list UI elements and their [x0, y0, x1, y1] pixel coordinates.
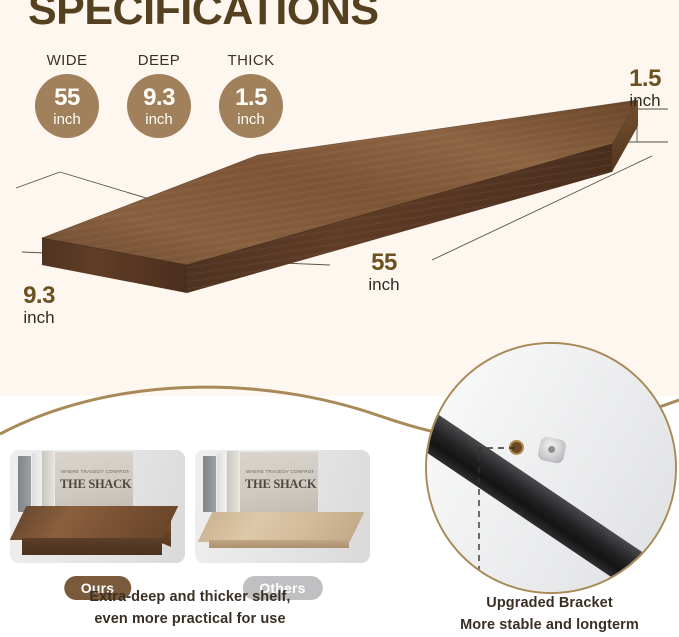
shelf-drawing — [0, 60, 679, 330]
badge-holder-others: Others — [195, 558, 370, 588]
page-title: SPECIFICATIONS — [28, 0, 379, 33]
detail-caption: Upgraded Bracket More stable and longter… — [420, 592, 679, 637]
book-spine — [227, 451, 239, 512]
book-stack: WHERE TRAGEDY CONFRONTS ETERNITY THE SHA… — [18, 450, 138, 512]
book-spine — [203, 456, 216, 512]
book-subtitle: WHERE TRAGEDY CONFRONTS ETERNITY — [61, 469, 129, 474]
book-spine — [217, 453, 226, 512]
dimension-label-thickness: 1.5 inch — [615, 66, 675, 110]
book-title: THE SHACK — [60, 477, 131, 492]
dimension-label-depth: 9.3 inch — [4, 283, 74, 327]
dimension-label-width: 55 inch — [345, 250, 423, 294]
book-subtitle: WHERE TRAGEDY CONFRONTS ETERNITY — [246, 469, 314, 474]
book-spine — [18, 456, 31, 512]
shelf-top-surface — [198, 512, 365, 542]
comparison-caption-line2: even more practical for use — [10, 608, 370, 630]
comparison-caption-line1: Extra-deep and thicker shelf, — [10, 586, 370, 608]
book-cover: WHERE TRAGEDY CONFRONTS ETERNITY THE SHA… — [55, 452, 133, 512]
book-stack: WHERE TRAGEDY CONFRONTS ETERNITY THE SHA… — [203, 450, 323, 512]
shelf-illustration — [0, 60, 679, 330]
dimension-unit: inch — [615, 92, 675, 110]
dimension-value: 1.5 — [615, 66, 675, 91]
comparison-panels: WHERE TRAGEDY CONFRONTS ETERNITY THE SHA… — [10, 450, 370, 565]
leader-line — [427, 344, 675, 592]
dimension-unit: inch — [4, 309, 74, 327]
comparison-panel-ours: WHERE TRAGEDY CONFRONTS ETERNITY THE SHA… — [10, 450, 185, 563]
shelf-body — [42, 100, 638, 293]
dimension-value: 9.3 — [4, 283, 74, 308]
specification-infographic: SPECIFICATIONS WIDE 55 inch DEEP 9.3 inc… — [0, 0, 679, 637]
comparison-caption: Extra-deep and thicker shelf, even more … — [10, 586, 370, 631]
dimension-unit: inch — [345, 276, 423, 294]
shelf-top-surface — [10, 506, 178, 540]
detail-caption-line2: More stable and longterm — [420, 614, 679, 636]
badge-holder-ours: Ours — [10, 558, 185, 588]
bracket-detail-magnifier — [425, 342, 677, 594]
dimension-value: 55 — [345, 250, 423, 275]
book-spine — [32, 453, 41, 512]
book-title: THE SHACK — [245, 477, 316, 492]
book-spine — [42, 451, 54, 512]
shelf-front-edge — [22, 538, 162, 555]
detail-caption-line1: Upgraded Bracket — [420, 592, 679, 614]
comparison-panel-others: WHERE TRAGEDY CONFRONTS ETERNITY THE SHA… — [195, 450, 370, 563]
book-cover: WHERE TRAGEDY CONFRONTS ETERNITY THE SHA… — [240, 452, 318, 512]
shelf-front-edge — [209, 540, 349, 548]
